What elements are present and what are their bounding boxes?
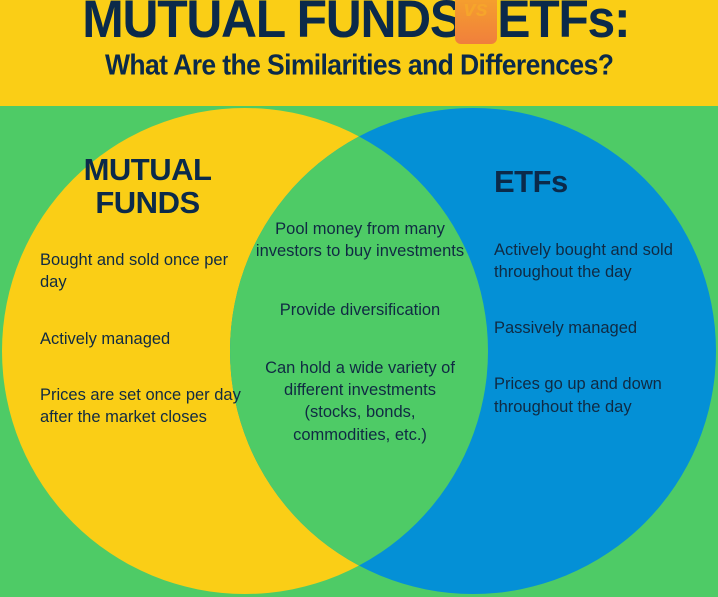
shared-traits-item: Provide diversification [254,299,466,321]
mutual-funds-column: MUTUAL FUNDS Bought and sold once per da… [40,154,255,462]
subtitle-text: What Are the Similarities and Difference… [105,50,613,79]
etfs-item: Prices go up and down throughout the day [494,373,699,418]
title-row: MUTUAL FUNDS vs ETFs: [0,0,718,42]
etfs-item: Passively managed [494,317,699,339]
etfs-heading: ETFs [494,166,699,199]
etfs-column: ETFs Actively bought and sold throughout… [494,166,699,452]
subtitle-row: What Are the Similarities and Difference… [0,50,718,77]
mutual-funds-heading: MUTUAL FUNDS [40,154,255,219]
title-part-two: ETFs: [497,0,629,44]
shared-traits-item: Pool money from many investors to buy in… [254,218,466,263]
etfs-item: Actively bought and sold throughout the … [494,239,699,284]
header-band: MUTUAL FUNDS vs ETFs: What Are the Simil… [0,0,718,106]
vs-badge: vs [455,0,497,44]
infographic-root: MUTUAL FUNDS vs ETFs: What Are the Simil… [0,0,718,597]
shared-traits-column: Pool money from many investors to buy in… [254,218,466,482]
venn-stage: MUTUAL FUNDS Bought and sold once per da… [0,106,718,597]
mutual-funds-item: Prices are set once per day after the ma… [40,384,255,429]
vs-label: vs [455,0,497,20]
mutual-funds-item: Actively managed [40,328,255,350]
mutual-funds-item: Bought and sold once per day [40,249,255,294]
shared-traits-item: Can hold a wide variety of different inv… [254,357,466,446]
title-part-one: MUTUAL FUNDS [82,0,462,44]
